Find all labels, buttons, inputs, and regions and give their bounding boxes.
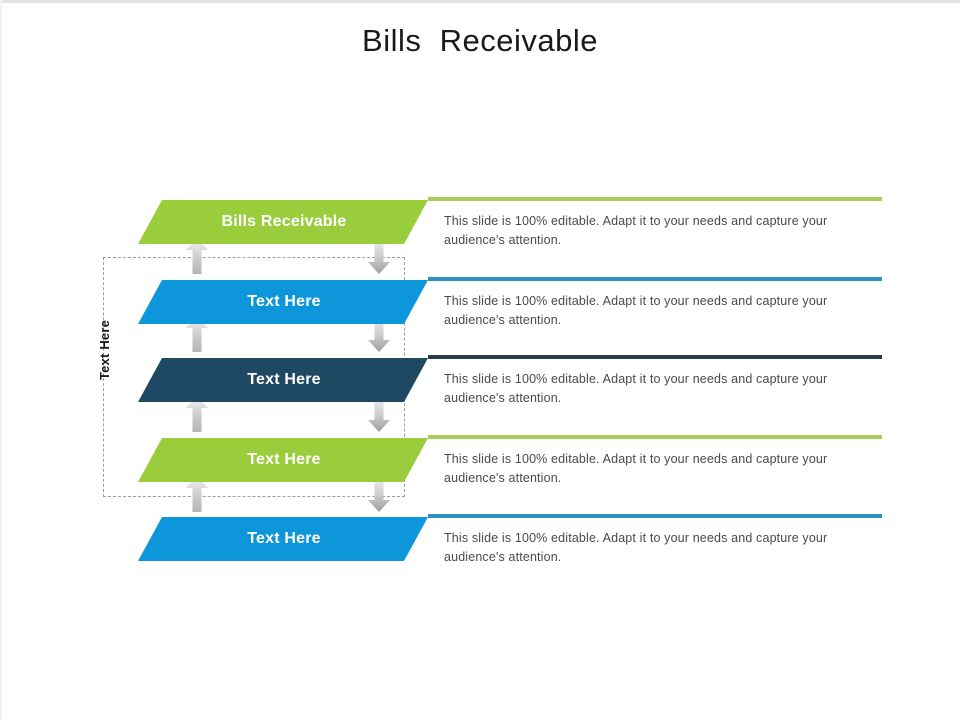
row-band[interactable]: Text Here: [138, 438, 428, 482]
diagram-row: Bills Receivable This slide is 100% edit…: [0, 200, 960, 244]
row-description: This slide is 100% editable. Adapt it to…: [444, 529, 856, 567]
row-description: This slide is 100% editable. Adapt it to…: [444, 292, 856, 330]
bills-receivable-diagram: Text Here Bills Receiv: [0, 0, 960, 720]
row-rule: [428, 435, 882, 439]
diagram-row: Text Here This slide is 100% editable. A…: [0, 438, 960, 482]
row-rule: [428, 197, 882, 201]
row-band[interactable]: Text Here: [138, 517, 428, 561]
row-band[interactable]: Bills Receivable: [138, 200, 428, 244]
row-rule: [428, 514, 882, 518]
diagram-row: Text Here This slide is 100% editable. A…: [0, 358, 960, 402]
row-description: This slide is 100% editable. Adapt it to…: [444, 450, 856, 488]
row-description: This slide is 100% editable. Adapt it to…: [444, 212, 856, 250]
row-band-label: Text Here: [245, 371, 321, 389]
row-band[interactable]: Text Here: [138, 280, 428, 324]
row-rule: [428, 277, 882, 281]
row-band-label: Text Here: [245, 530, 321, 548]
row-description: This slide is 100% editable. Adapt it to…: [444, 370, 856, 408]
diagram-row: Text Here This slide is 100% editable. A…: [0, 280, 960, 324]
row-band-label: Text Here: [245, 451, 321, 469]
row-band[interactable]: Text Here: [138, 358, 428, 402]
row-band-label: Text Here: [245, 293, 321, 311]
row-band-label: Bills Receivable: [219, 213, 346, 231]
diagram-row: Text Here This slide is 100% editable. A…: [0, 517, 960, 561]
row-rule: [428, 355, 882, 359]
slide-canvas: Bills Receivable Text Here: [0, 0, 960, 720]
